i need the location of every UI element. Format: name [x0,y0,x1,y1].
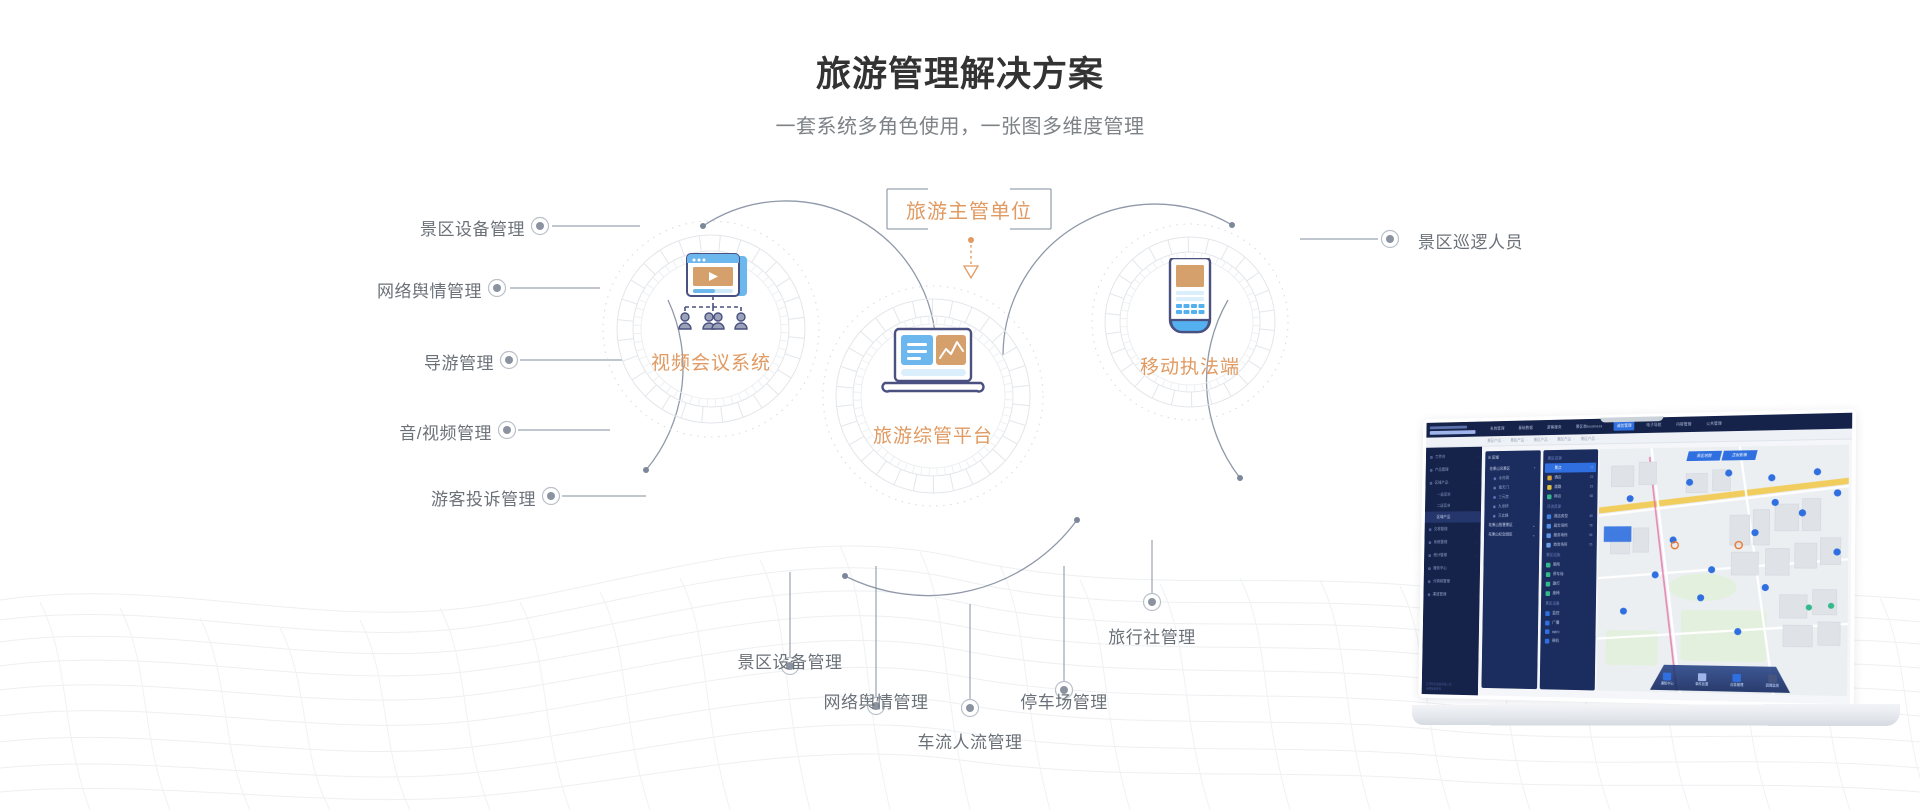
dashboard-sidebar-item[interactable]: 二级菜单 [1425,500,1481,512]
panel-row[interactable]: 道路23 [1545,482,1596,492]
map-layer-controls[interactable]: 景区地图正射影像 [1686,450,1757,461]
map-toolbar-item[interactable]: 应急管理 [1730,673,1743,687]
dashboard-sidebar-item[interactable]: 交易管理› [1425,522,1481,535]
panel-row[interactable]: 展交场所78 [1544,521,1595,531]
cluster-label-center: 旅游综管平台 [822,421,1044,448]
dashboard-sidebar-item[interactable]: 工作台› [1426,450,1482,464]
tree-header: ☰ 区域 [1488,454,1538,461]
panel-row[interactable]: 商务场所76 [1544,540,1595,550]
panel-row[interactable]: 监控 [1543,608,1595,618]
panel-row[interactable]: 路灯 [1543,579,1594,589]
tree-leaf[interactable]: 九龙桥 [1487,501,1537,511]
panel-row[interactable]: 停车场 [1543,569,1594,579]
right-label-0: 景区巡逻人员 [1418,228,1523,253]
laptop-mockup: 系统管理基础数据游客服务景区商business诚信管理电子导航内容管理公共管理 … [1355,408,1900,768]
map-toolbar-item[interactable]: 舆情监测 [1766,674,1779,688]
map-toolbar-item[interactable]: 通知中心 [1661,672,1674,686]
dashboard-tab[interactable]: 景区产品 [1487,438,1504,444]
dashboard-nav-item[interactable]: 公共管理 [1703,419,1724,429]
cluster-central-platform: 旅游综管平台 [822,285,1044,507]
authority-arrow-icon [958,236,984,282]
authority-box-label: 旅游主管单位 [886,188,1052,230]
dashboard-sidebar[interactable]: 工作台›产品管理›区域产品›一级菜单二级菜单区域产品交易管理›系统管理›统计管理… [1422,447,1482,696]
panel-section-title: 景区设备 [1543,598,1595,609]
dashboard-sidebar-item[interactable]: 一级菜单 [1425,489,1481,501]
dashboard-sidebar-item[interactable]: 系统管理› [1424,536,1480,549]
dashboard-nav-item[interactable]: 基础数据 [1516,423,1536,433]
map-control-button[interactable]: 正射影像 [1722,450,1758,460]
solution-diagram-page: 旅游管理解决方案 一套系统多角色使用，一张图多维度管理 [0,0,1920,810]
dashboard-logo [1426,422,1482,438]
tree-group[interactable]: 花果山纪念园区⌄ [1487,530,1537,540]
dashboard-nav-item[interactable]: 内容管理 [1673,419,1694,429]
panel-row[interactable]: 厕所 [1543,560,1594,570]
dashboard-tree-panel[interactable]: ☰ 区域花果山风景区⌃水帘洞南天门三元宫九龙桥玉女峰花果山智慧景区⌄花果山纪念园… [1481,450,1540,689]
dashboard-sidebar-item[interactable]: 服务中心› [1424,562,1480,575]
panel-row[interactable]: 网点68 [1544,491,1595,501]
left-label-0: 景区设备管理 [300,215,525,240]
mobile-enforcement-device-icon [1158,258,1222,341]
tree-leaf[interactable]: 南天门 [1487,482,1537,492]
video-conference-icon [665,252,757,341]
panel-section-title: 景区设施 [1543,549,1594,560]
dashboard-tab[interactable]: 景区产品 [1581,436,1599,442]
panel-row[interactable]: 服务场所95 [1544,530,1595,540]
dashboard-nav-item[interactable]: 游客服务 [1544,422,1564,432]
cluster-label-video: 视频会议系统 [600,348,822,375]
left-label-1: 网络舆情管理 [260,277,482,302]
panel-row[interactable]: 酒店房型45 [1544,511,1595,521]
tree-leaf[interactable]: 玉女峰 [1487,511,1537,521]
left-label-2: 导游管理 [270,349,494,374]
cluster-label-mobile: 移动执法端 [1090,352,1290,379]
laptop-dashboard-icon [879,327,987,408]
bottom-label-4: 旅行社管理 [1088,623,1216,648]
dashboard-nav-item[interactable]: 诚信管理 [1614,421,1635,431]
dashboard-sidebar-item[interactable]: 渠道管理› [1423,588,1479,601]
left-label-3: 音/视频管理 [268,419,492,444]
dashboard-map[interactable]: 景区地图正射影像 通知中心事件处置应急管理舆情监测 [1597,445,1850,697]
panel-row[interactable]: 闸机 [1542,636,1594,646]
dashboard-tab[interactable]: 景区产品 [1534,437,1551,443]
dashboard-nav-item[interactable]: 系统管理 [1487,424,1507,434]
dashboard-sidebar-item[interactable]: 区域产品 [1425,511,1481,523]
cluster-mobile-enforcement: 移动执法端 [1090,222,1290,422]
dashboard-sidebar-item[interactable]: 产品管理› [1426,463,1482,477]
dashboard-nav-item[interactable]: 电子导航 [1643,420,1664,430]
bottom-label-2: 车流人流管理 [906,728,1034,753]
map-toolbar-item[interactable]: 事件处置 [1695,673,1708,687]
map-control-button[interactable]: 景区地图 [1686,451,1722,461]
dashboard-sidebar-footer: 江苏凯米控股有限公司专属版权所有 [1422,679,1478,695]
dashboard-tab[interactable]: 景区产品 [1557,436,1575,442]
dashboard-sidebar-item[interactable]: 统计管理› [1424,549,1480,562]
tree-group[interactable]: 花果山智慧景区⌄ [1487,520,1537,530]
dashboard-nav-item[interactable]: 景区商business [1573,421,1605,431]
cluster-video-conference: 视频会议系统 [600,218,822,440]
dashboard-sidebar-item[interactable]: 区域产品› [1425,476,1481,490]
left-label-4: 游客投诉管理 [312,485,536,510]
bottom-label-3: 停车场管理 [1000,688,1128,713]
map-bottom-toolbar[interactable]: 通知中心事件处置应急管理舆情监测 [1650,665,1790,693]
bottom-label-0: 景区设备管理 [726,648,854,673]
tree-leaf[interactable]: 三元宫 [1487,492,1537,502]
bottom-label-1: 网络舆情管理 [812,688,940,713]
authority-box: 旅游主管单位 [886,188,1052,230]
panel-row[interactable]: 座椅 [1543,588,1594,598]
dashboard-sidebar-item[interactable]: 分销商管理› [1424,575,1480,588]
panel-section-title: 洋流资源 [1544,501,1595,512]
laptop-screen: 系统管理基础数据游客服务景区商business诚信管理电子导航内容管理公共管理 … [1418,409,1856,709]
dashboard-tab[interactable]: 景区产品 [1510,437,1527,443]
laptop-base [1412,704,1901,726]
dashboard-resource-panel[interactable]: 景区资源景点23酒店23道路23网点68洋流资源酒店房型45展交场所78服务场所… [1540,449,1598,690]
